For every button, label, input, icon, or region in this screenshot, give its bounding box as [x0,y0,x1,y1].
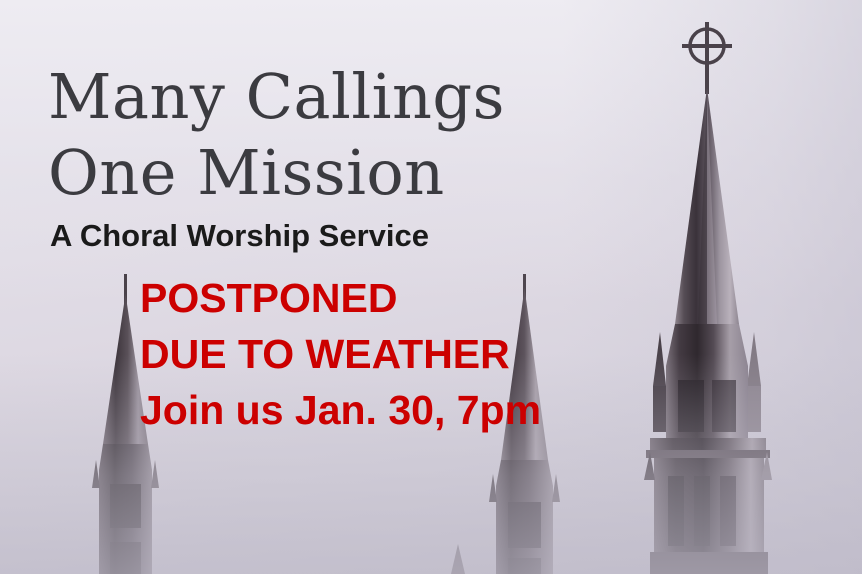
notice-line-new-date: Join us Jan. 30, 7pm [140,390,541,431]
poster-text-layer: Many Callings One Mission A Choral Worsh… [0,0,862,574]
notice-line-postponed: POSTPONED [140,278,397,319]
poster-image: Many Callings One Mission A Choral Worsh… [0,0,862,574]
poster-title-line-1: Many Callings [48,66,505,128]
poster-title-line-2: One Mission [48,142,445,204]
notice-line-reason: DUE TO WEATHER [140,334,510,375]
poster-subtitle: A Choral Worship Service [50,218,429,254]
